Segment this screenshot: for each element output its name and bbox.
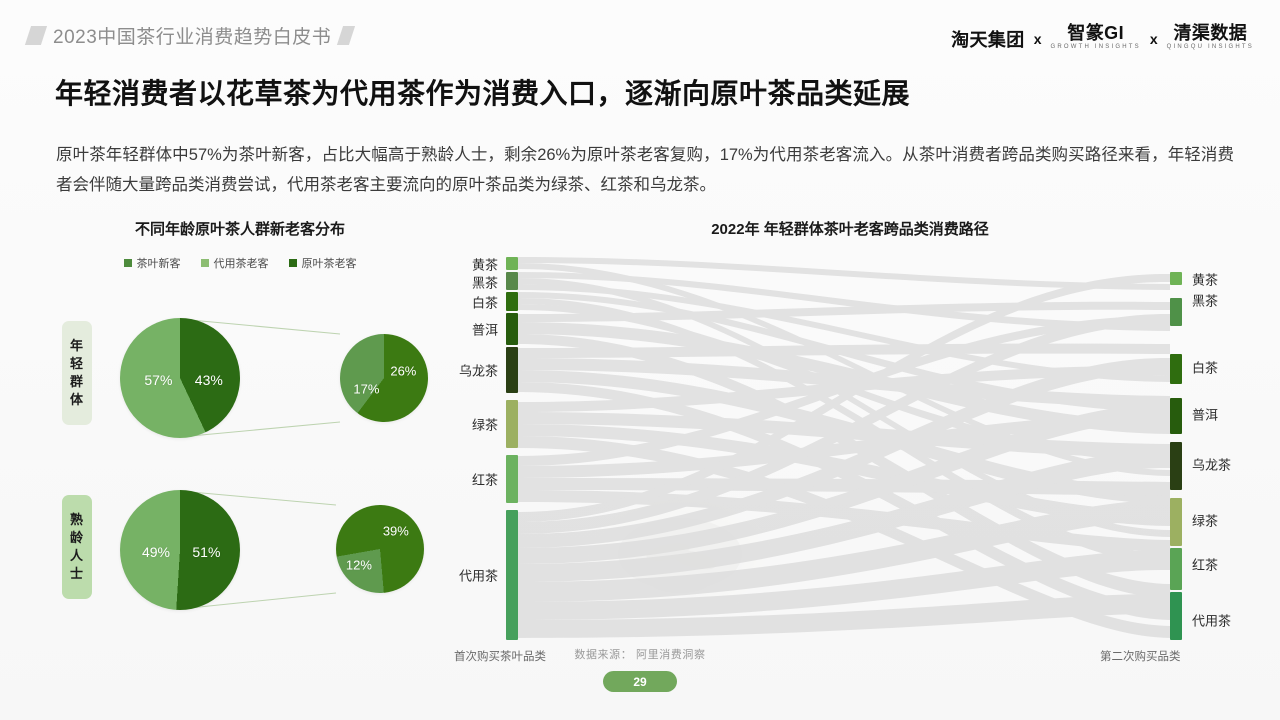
- brand-bar: 淘天集团 x 智篆GI GROWTH INSIGHTS x 清渠数据 QINGQ…: [951, 24, 1254, 50]
- pie-breakout-mature: 12% 39%: [336, 505, 424, 593]
- pie-chart-young-breakout: 17% 26%: [340, 334, 428, 422]
- sankey-source-node-baicha[interactable]: [506, 292, 518, 311]
- sankey-target-label: 普洱: [1192, 405, 1218, 424]
- brand-taotian: 淘天集团: [951, 31, 1025, 50]
- sankey-source-node-heicha[interactable]: [506, 272, 518, 290]
- kicker-label: 2023中国茶行业消费趋势白皮书: [53, 22, 331, 49]
- page-summary: 原叶茶年轻群体中57%为茶叶新客，占比大幅高于熟龄人士，剩余26%为原叶茶老客复…: [56, 140, 1234, 200]
- sankey-target-node-puer[interactable]: [1170, 398, 1182, 434]
- group-tag-char: 熟龄人士: [70, 511, 84, 583]
- sankey-target-node-daiyongcha[interactable]: [1170, 592, 1182, 640]
- pie-row-young: 年轻群体 57% 43% 17% 26%: [40, 297, 440, 457]
- group-tag-mature: 熟龄人士: [62, 495, 92, 599]
- sankey-source-label: 代用茶: [422, 566, 498, 585]
- brand-separator: x: [1150, 31, 1158, 50]
- sankey-source-node-wulongcha[interactable]: [506, 347, 518, 393]
- sankey-source-label: 乌龙茶: [422, 361, 498, 380]
- sankey-source-node-hongcha[interactable]: [506, 455, 518, 503]
- deck-kicker: 2023中国茶行业消费趋势白皮书: [28, 22, 352, 49]
- sankey-source-label: 黄茶: [422, 255, 498, 274]
- legend-swatch-icon: [124, 259, 132, 267]
- legend-swatch-icon: [289, 259, 297, 267]
- legend-label: 茶叶新客: [137, 255, 181, 271]
- legend-item-substitute: 代用茶老客: [201, 255, 269, 271]
- brand-qingqu: 清渠数据 QINGQU INSIGHTS: [1167, 24, 1254, 50]
- legend-item-new: 茶叶新客: [124, 255, 181, 271]
- sankey-target-node-baicha[interactable]: [1170, 354, 1182, 384]
- legend-item-leaf: 原叶茶老客: [289, 255, 357, 271]
- brand-zhizhuan: 智篆GI GROWTH INSIGHTS: [1051, 24, 1141, 50]
- sankey-source-label: 黑茶: [422, 273, 498, 292]
- sankey-flows: [440, 252, 1260, 652]
- pie-chart-mature: 49% 51%: [120, 490, 240, 610]
- sankey-source-node-lvcha[interactable]: [506, 400, 518, 448]
- pie-slice-value: 49%: [142, 544, 170, 560]
- sankey-target-node-wulongcha[interactable]: [1170, 442, 1182, 490]
- slide-canvas: 2023中国茶行业消费趋势白皮书 淘天集团 x 智篆GI GROWTH INSI…: [0, 0, 1280, 720]
- page-title: 年轻消费者以花草茶为代用茶作为消费入口，逐渐向原叶茶品类延展: [55, 72, 910, 112]
- sankey-source-label: 普洱: [422, 320, 498, 339]
- sankey-panel-title: 2022年 年轻群体茶叶老客跨品类消费路径: [440, 218, 1260, 239]
- sankey-source-label: 绿茶: [422, 415, 498, 434]
- pie-slice-value: 26%: [390, 363, 416, 378]
- pie-slice-value: 39%: [383, 524, 409, 539]
- sankey-target-node-huangcha[interactable]: [1170, 272, 1182, 285]
- sankey-source-node-daiyongcha[interactable]: [506, 510, 518, 640]
- pie-chart-young: 57% 43%: [120, 318, 240, 438]
- group-tag-char: 年轻群体: [70, 337, 84, 409]
- sankey-target-node-lvcha[interactable]: [1170, 498, 1182, 546]
- pie-legend: 茶叶新客 代用茶老客 原叶茶老客: [40, 255, 440, 271]
- sankey-target-label: 代用茶: [1192, 611, 1231, 630]
- sankey-source-node-huangcha[interactable]: [506, 257, 518, 270]
- pie-panel: 不同年龄原叶茶人群新老客分布 茶叶新客 代用茶老客 原叶茶老客 年轻群体: [40, 218, 440, 638]
- sankey-source-label: 白茶: [422, 293, 498, 312]
- pie-main-young: 57% 43%: [120, 318, 240, 438]
- pie-chart-mature-breakout: 12% 39%: [336, 505, 424, 593]
- sankey-target-node-heicha[interactable]: [1170, 298, 1182, 326]
- sankey-target-label: 红茶: [1192, 555, 1218, 574]
- sankey-panel: 2022年 年轻群体茶叶老客跨品类消费路径: [440, 218, 1260, 638]
- brand-separator: x: [1034, 31, 1042, 50]
- pie-panel-title: 不同年龄原叶茶人群新老客分布: [40, 218, 440, 239]
- sankey-target-label: 黄茶: [1192, 270, 1218, 289]
- sankey-target-label: 黑茶: [1192, 291, 1218, 310]
- slash-decoration-icon: [25, 26, 47, 45]
- legend-swatch-icon: [201, 259, 209, 267]
- pie-row-mature: 熟龄人士 49% 51% 12% 39%: [40, 471, 440, 631]
- slash-decoration-icon: [337, 26, 355, 45]
- data-source-note: 数据来源： 阿里消费洞察: [0, 646, 1280, 662]
- sankey-source-node-puer[interactable]: [506, 313, 518, 345]
- pie-breakout-young: 17% 26%: [340, 334, 428, 422]
- legend-label: 原叶茶老客: [302, 255, 357, 271]
- pie-slice-value: 51%: [192, 544, 220, 560]
- pie-slice-value: 17%: [353, 381, 379, 396]
- pie-slice-value: 43%: [195, 372, 223, 388]
- sankey-stage: 黄茶 黑茶 白茶 普洱 乌龙茶 绿茶 红茶 代用茶 黄茶 黑茶 白茶 普洱: [440, 252, 1260, 652]
- pie-slice-value: 57%: [144, 372, 172, 388]
- page-number-badge: 29: [603, 671, 677, 692]
- group-tag-young: 年轻群体: [62, 321, 92, 425]
- pie-slice-value: 12%: [346, 557, 372, 572]
- sankey-target-label: 绿茶: [1192, 511, 1218, 530]
- sankey-target-node-hongcha[interactable]: [1170, 548, 1182, 590]
- sankey-target-label: 乌龙茶: [1192, 455, 1231, 474]
- legend-label: 代用茶老客: [214, 255, 269, 271]
- sankey-target-label: 白茶: [1192, 358, 1218, 377]
- sankey-source-label: 红茶: [422, 470, 498, 489]
- pie-main-mature: 49% 51%: [120, 490, 240, 610]
